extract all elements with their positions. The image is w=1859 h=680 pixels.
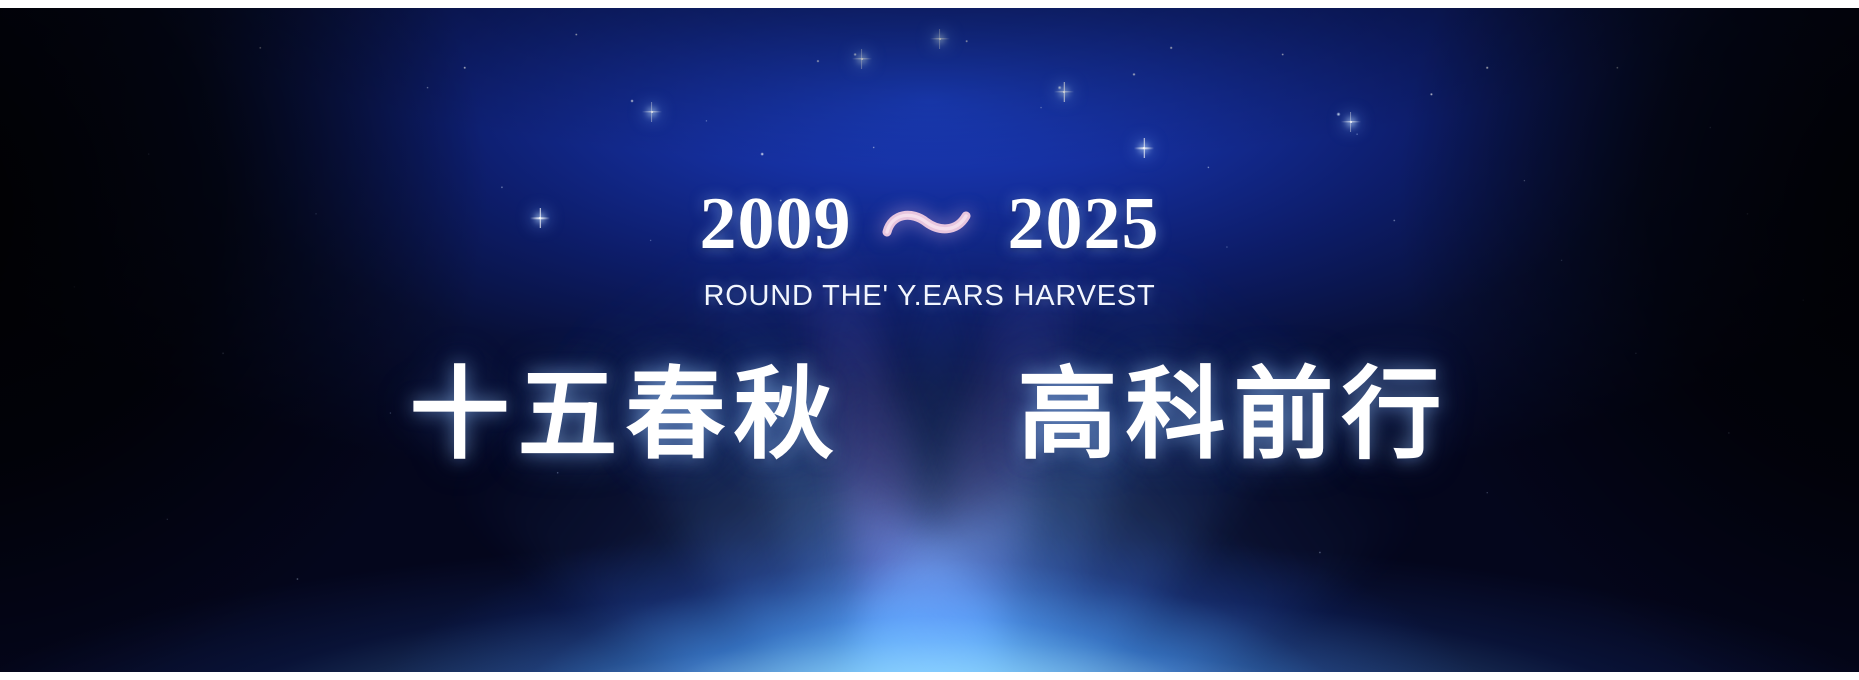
slogan-left: 十五春秋 (410, 361, 842, 469)
star-glint-icon (539, 217, 541, 219)
banner-slogan: 十五春秋 高科前行 (410, 361, 1450, 469)
bottom-trim-strip (0, 672, 1859, 680)
star-glint-icon (1063, 91, 1065, 93)
year-range: 2009 2025 (700, 187, 1160, 261)
star-glint-icon (651, 111, 653, 113)
banner-tagline: ROUND THE' Y.EARS HARVEST (703, 280, 1155, 313)
slogan-right: 高科前行 (1018, 361, 1450, 469)
anniversary-banner: 2009 2025 ROUND THE' Y.EARS HARVEST 十五春秋… (0, 0, 1859, 680)
star-glint-icon (939, 38, 941, 40)
light-ray (856, 280, 1470, 672)
end-year: 2025 (1008, 187, 1160, 261)
starfield-small-stars (0, 8, 1859, 672)
banner-content: 2009 2025 ROUND THE' Y.EARS HARVEST 十五春秋… (0, 8, 1859, 672)
bottom-glow-core (0, 274, 1859, 672)
starfield-bright-stars (0, 8, 1859, 672)
wave-tilde-icon (882, 201, 978, 247)
start-year: 2009 (700, 187, 852, 261)
banner-artwork-stage: 2009 2025 ROUND THE' Y.EARS HARVEST 十五春秋… (0, 8, 1859, 672)
star-glint-icon (861, 58, 863, 60)
star-glint-icon (1143, 147, 1145, 149)
top-trim-strip (0, 0, 1859, 8)
star-glint-icon (1350, 121, 1352, 123)
edge-vignette (0, 8, 1859, 672)
